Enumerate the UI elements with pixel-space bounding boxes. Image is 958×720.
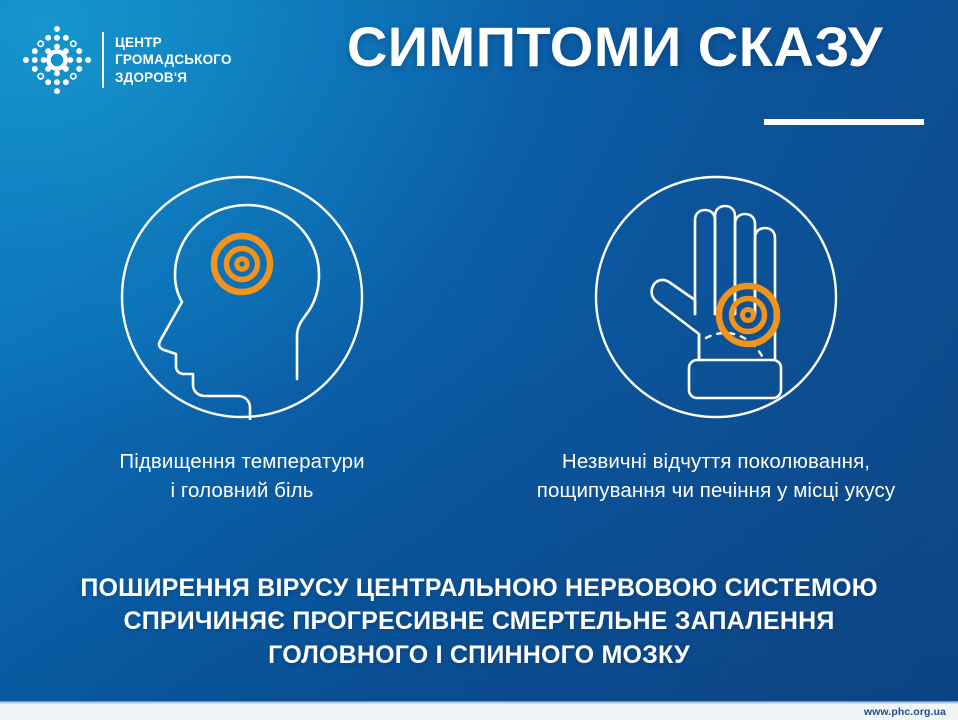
statement-line-2: СПРИЧИНЯЄ ПРОГРЕСИВНЕ СМЕРТЕЛЬНЕ ЗАПАЛЕН…: [0, 605, 958, 638]
statement-text: ПОШИРЕННЯ ВІРУСУ ЦЕНТРАЛЬНОЮ НЕРВОВОЮ СИ…: [0, 572, 958, 672]
head-profile-with-target-icon: [119, 174, 365, 420]
statement-line-1: ПОШИРЕННЯ ВІРУСУ ЦЕНТРАЛЬНОЮ НЕРВОВОЮ СИ…: [0, 572, 958, 605]
logo-text-line-2: ГРОМАДСЬКОГО: [115, 51, 232, 69]
symptom-caption-line-1: Підвищення температури: [12, 447, 472, 476]
title-underline-rule: [764, 119, 924, 125]
poster-root: ЦЕНТР ГРОМАДСЬКОГО ЗДОРОВ'Я СИМПТОМИ СКА…: [0, 0, 958, 720]
symptom-caption-line-2: пощипування чи печіння у місці укусу: [486, 476, 946, 505]
phc-diamond-dots-logo-icon: [20, 23, 94, 97]
symptom-item-fever-headache: Підвищення температури і головний біль: [12, 174, 472, 505]
footer-bar: [0, 704, 958, 720]
logo-text-line-3: ЗДОРОВ'Я: [115, 69, 232, 87]
footer-website-url[interactable]: www.phc.org.ua: [864, 704, 946, 720]
organization-logo: ЦЕНТР ГРОМАДСЬКОГО ЗДОРОВ'Я: [20, 20, 232, 100]
page-title: СИМПТОМИ СКАЗУ: [300, 18, 930, 77]
symptom-caption: Незвичні відчуття поколювання, пощипуван…: [486, 447, 946, 505]
symptom-caption: Підвищення температури і головний біль: [12, 447, 472, 505]
symptom-item-tingling-bite-site: Незвичні відчуття поколювання, пощипуван…: [486, 174, 946, 505]
symptom-caption-line-1: Незвичні відчуття поколювання,: [486, 447, 946, 476]
logo-text-line-1: ЦЕНТР: [115, 34, 232, 52]
statement-line-3: ГОЛОВНОГО І СПИННОГО МОЗКУ: [0, 639, 958, 672]
hand-with-target-icon: [593, 174, 839, 420]
symptom-caption-line-2: і головний біль: [12, 476, 472, 505]
logo-divider: [102, 32, 104, 88]
logo-text: ЦЕНТР ГРОМАДСЬКОГО ЗДОРОВ'Я: [115, 34, 232, 87]
